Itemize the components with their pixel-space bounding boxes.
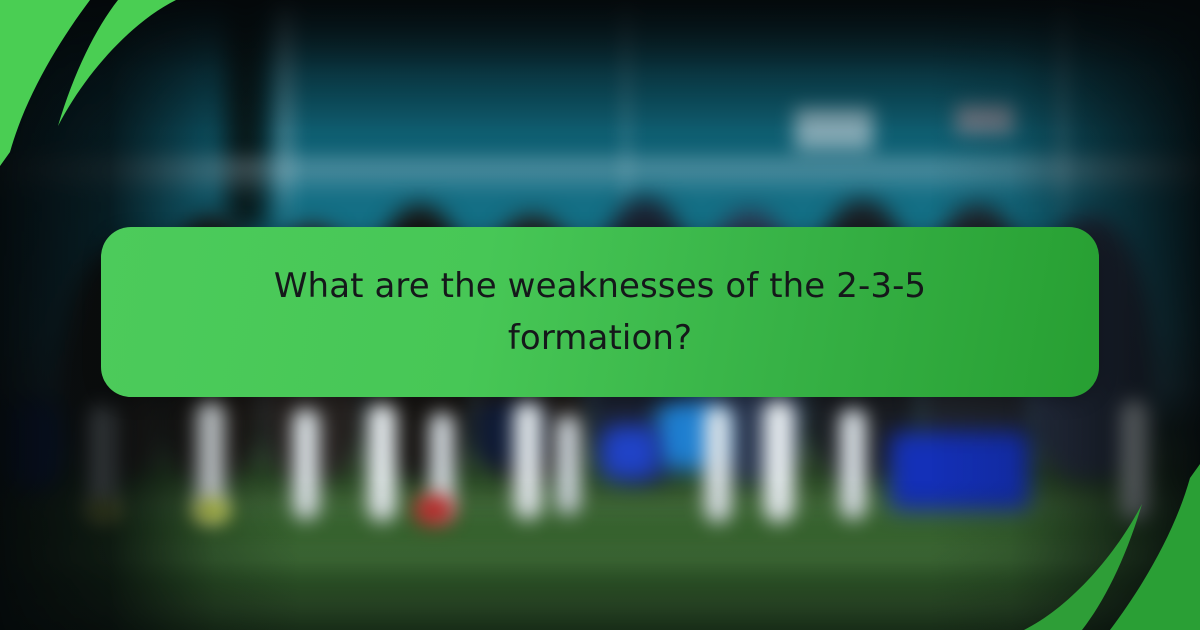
question-text: What are the weaknesses of the 2-3-5 for… [270, 260, 930, 364]
question-pill[interactable]: What are the weaknesses of the 2-3-5 for… [101, 227, 1099, 397]
question-card-canvas: What are the weaknesses of the 2-3-5 for… [0, 0, 1200, 630]
